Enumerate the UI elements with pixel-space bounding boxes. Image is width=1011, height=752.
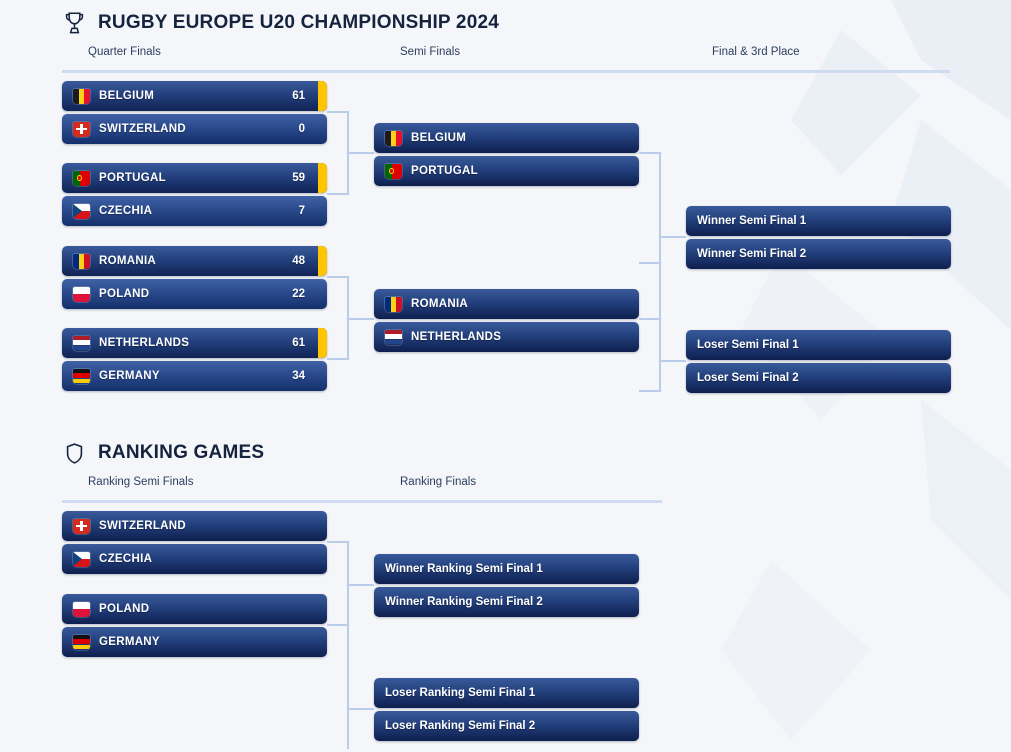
match-row-away[interactable]: GERMANY	[62, 627, 327, 657]
placeholder-label: Loser Semi Final 1	[697, 339, 799, 351]
team-score: 7	[299, 205, 327, 217]
match-row-away[interactable]: GERMANY 34	[62, 361, 327, 391]
connector	[327, 276, 349, 278]
flag-portugal	[385, 164, 402, 179]
championship-divider	[62, 70, 950, 73]
match-qf-3[interactable]: ROMANIA 48 POLAND 22	[62, 246, 327, 309]
team-name: PORTUGAL	[411, 165, 478, 177]
match-row-home[interactable]: BELGIUM 61	[62, 81, 327, 111]
team-name: PORTUGAL	[99, 172, 166, 184]
team-name: NETHERLANDS	[411, 331, 501, 343]
flag-romania	[73, 254, 90, 269]
team-name: POLAND	[99, 603, 149, 615]
connector	[327, 624, 349, 626]
placeholder-label: Winner Semi Final 1	[697, 215, 806, 227]
match-ranking-sf-1[interactable]: SWITZERLAND CZECHIA	[62, 511, 327, 574]
match-row-home[interactable]: BELGIUM	[374, 123, 639, 153]
match-row-away[interactable]: CZECHIA 7	[62, 196, 327, 226]
team-name: NETHERLANDS	[99, 337, 189, 349]
connector	[347, 708, 374, 710]
round-label-final-3rd-place: Final & 3rd Place	[712, 46, 800, 58]
round-label-semi-finals: Semi Finals	[400, 46, 460, 58]
shield-icon	[62, 439, 86, 467]
connector	[347, 318, 374, 320]
match-row-home[interactable]: Winner Semi Final 1	[686, 206, 951, 236]
flag-belgium	[385, 131, 402, 146]
connector	[639, 262, 661, 264]
connector	[327, 111, 349, 113]
team-name: ROMANIA	[411, 298, 468, 310]
connector	[659, 236, 686, 238]
team-name: SWITZERLAND	[99, 520, 186, 532]
winner-accent-bar	[318, 328, 327, 358]
connector	[327, 541, 349, 543]
match-row-home[interactable]: NETHERLANDS 61	[62, 328, 327, 358]
connector	[347, 541, 349, 749]
flag-switzerland	[73, 122, 90, 137]
match-ranking-sf-2[interactable]: POLAND GERMANY	[62, 594, 327, 657]
placeholder-label: Loser Semi Final 2	[697, 372, 799, 384]
connector	[639, 390, 661, 392]
match-row-away[interactable]: Winner Ranking Semi Final 2	[374, 587, 639, 617]
match-row-away[interactable]: Loser Semi Final 2	[686, 363, 951, 393]
connector	[327, 358, 349, 360]
flag-portugal	[73, 171, 90, 186]
connector	[639, 318, 661, 320]
ranking-title: RANKING GAMES	[98, 442, 264, 464]
match-row-away[interactable]: CZECHIA	[62, 544, 327, 574]
match-sf-2[interactable]: ROMANIA NETHERLANDS	[374, 289, 639, 352]
winner-accent-bar	[318, 163, 327, 193]
match-row-away[interactable]: Winner Semi Final 2	[686, 239, 951, 269]
match-row-away[interactable]: PORTUGAL	[374, 156, 639, 186]
match-row-home[interactable]: Loser Semi Final 1	[686, 330, 951, 360]
team-name: SWITZERLAND	[99, 123, 186, 135]
flag-poland	[73, 287, 90, 302]
match-row-home[interactable]: PORTUGAL 59	[62, 163, 327, 193]
match-row-home[interactable]: Loser Ranking Semi Final 1	[374, 678, 639, 708]
match-ranking-final-winners[interactable]: Winner Ranking Semi Final 1 Winner Ranki…	[374, 554, 639, 617]
flag-netherlands	[385, 330, 402, 345]
match-row-home[interactable]: ROMANIA	[374, 289, 639, 319]
winner-accent-bar	[318, 81, 327, 111]
match-row-away[interactable]: Loser Ranking Semi Final 2	[374, 711, 639, 741]
flag-germany	[73, 635, 90, 650]
championship-section-header: RUGBY EUROPE U20 CHAMPIONSHIP 2024 Quart…	[62, 8, 950, 73]
placeholder-label: Winner Ranking Semi Final 2	[385, 596, 543, 608]
flag-romania	[385, 297, 402, 312]
ranking-round-labels: Ranking Semi Finals Ranking Finals	[62, 476, 662, 496]
team-name: GERMANY	[99, 636, 160, 648]
connector	[659, 262, 661, 390]
match-row-home[interactable]: POLAND	[62, 594, 327, 624]
connector	[639, 152, 661, 154]
match-qf-4[interactable]: NETHERLANDS 61 GERMANY 34	[62, 328, 327, 391]
winner-accent-bar	[318, 246, 327, 276]
match-row-away[interactable]: POLAND 22	[62, 279, 327, 309]
connector	[659, 360, 686, 362]
match-row-home[interactable]: ROMANIA 48	[62, 246, 327, 276]
match-qf-1[interactable]: BELGIUM 61 SWITZERLAND 0	[62, 81, 327, 144]
match-sf-1[interactable]: BELGIUM PORTUGAL	[374, 123, 639, 186]
championship-round-labels: Quarter Finals Semi Finals Final & 3rd P…	[62, 46, 950, 66]
match-third-place[interactable]: Loser Semi Final 1 Loser Semi Final 2	[686, 330, 951, 393]
team-score: 34	[292, 370, 327, 382]
flag-netherlands	[73, 336, 90, 351]
team-name: BELGIUM	[411, 132, 466, 144]
team-name: CZECHIA	[99, 553, 152, 565]
flag-poland	[73, 602, 90, 617]
ranking-divider	[62, 500, 662, 503]
placeholder-label: Winner Semi Final 2	[697, 248, 806, 260]
team-name: ROMANIA	[99, 255, 156, 267]
bracket-page: RUGBY EUROPE U20 CHAMPIONSHIP 2024 Quart…	[0, 0, 1011, 752]
flag-germany	[73, 369, 90, 384]
round-label-ranking-finals: Ranking Finals	[400, 476, 476, 488]
trophy-icon	[62, 9, 86, 37]
placeholder-label: Loser Ranking Semi Final 1	[385, 687, 535, 699]
round-label-ranking-semi-finals: Ranking Semi Finals	[88, 476, 193, 488]
team-name: GERMANY	[99, 370, 160, 382]
team-name: BELGIUM	[99, 90, 154, 102]
match-row-away[interactable]: NETHERLANDS	[374, 322, 639, 352]
team-name: CZECHIA	[99, 205, 152, 217]
connector	[327, 193, 349, 195]
flag-belgium	[73, 89, 90, 104]
match-row-home[interactable]: Winner Ranking Semi Final 1	[374, 554, 639, 584]
connector	[347, 584, 374, 586]
placeholder-label: Loser Ranking Semi Final 2	[385, 720, 535, 732]
team-name: POLAND	[99, 288, 149, 300]
match-row-away[interactable]: SWITZERLAND 0	[62, 114, 327, 144]
ranking-section-header: RANKING GAMES Ranking Semi Finals Rankin…	[62, 438, 662, 503]
team-score: 0	[299, 123, 327, 135]
flag-czechia	[73, 204, 90, 219]
championship-title: RUGBY EUROPE U20 CHAMPIONSHIP 2024	[98, 12, 499, 34]
connector	[347, 152, 374, 154]
flag-switzerland	[73, 519, 90, 534]
flag-czechia	[73, 552, 90, 567]
placeholder-label: Winner Ranking Semi Final 1	[385, 563, 543, 575]
match-qf-2[interactable]: PORTUGAL 59 CZECHIA 7	[62, 163, 327, 226]
match-row-home[interactable]: SWITZERLAND	[62, 511, 327, 541]
match-final[interactable]: Winner Semi Final 1 Winner Semi Final 2	[686, 206, 951, 269]
team-score: 22	[292, 288, 327, 300]
match-ranking-final-losers[interactable]: Loser Ranking Semi Final 1 Loser Ranking…	[374, 678, 639, 741]
round-label-quarter-finals: Quarter Finals	[88, 46, 161, 58]
